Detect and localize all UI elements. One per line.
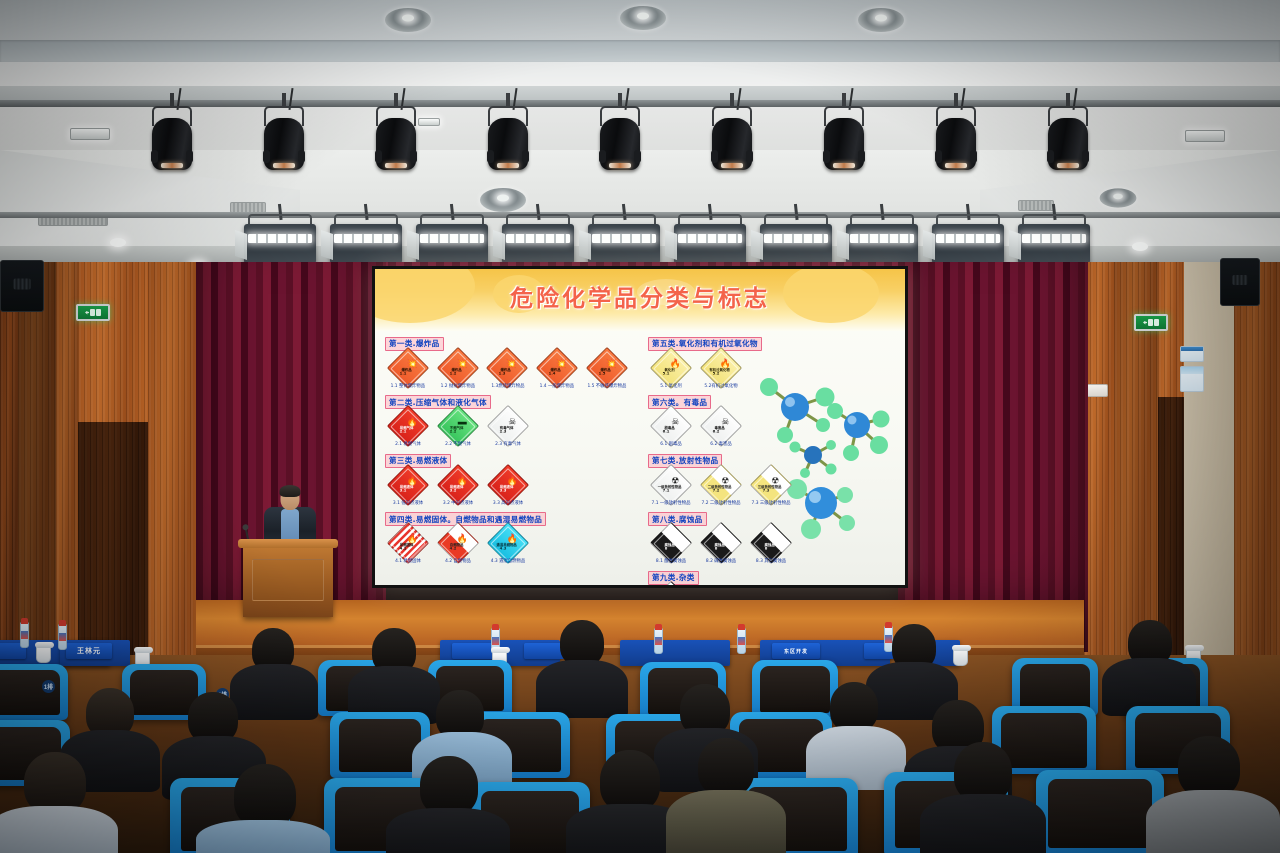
hazard-symbol-row: 💥爆炸品1.11.1 整体爆炸物品💥爆炸品1.21.2 抛射爆炸物品💥爆炸品1.… [385,353,630,389]
slide-section: 第八类.腐蚀品🜔腐蚀品88.1 酸性腐蚀品🜔腐蚀品88.2 碱性腐蚀品🜔腐蚀品8… [648,509,895,565]
stage-spotlight [370,106,422,172]
wall-poster [1180,366,1204,392]
hazard-symbol: 🔥遇湿易燃物品4.34.3 遇湿自燃物品 [485,528,531,564]
audience-shoulders [1146,790,1280,853]
tea-cup [36,645,51,663]
hazard-symbol: ☠毒害品6.26.2 毒害品 [698,411,744,447]
slide-section-heading: 第二类.压缩气体和液化气体 [385,395,491,409]
hazard-symbol: 🔥易燃液体3.33.3 高闪点液体 [485,470,531,506]
hazard-symbol: ▬不燃气体2.22.2 不燃气体 [435,411,481,447]
hazard-diamond-icon: 🔥氧化剂5.1 [650,346,692,388]
slide-column-left: 第一类.爆炸品💥爆炸品1.11.1 整体爆炸物品💥爆炸品1.21.2 抛射爆炸物… [375,329,640,585]
hazard-symbol: 🔥易燃固体4.14.1 易燃固体 [385,528,431,564]
hazard-symbol: 🔥自燃物品4.24.2 自燃物品 [435,528,481,564]
hazard-symbol-caption: 7.2 二级放射性物品 [699,501,743,506]
audience-shoulders [536,660,628,718]
hazard-symbol: 🔥易燃气体2.12.1 易燃气体 [385,411,431,447]
audience-head [830,682,878,732]
hazard-symbol: 🔥有机过氧化物5.25.2有机过氧化物 [698,353,744,389]
hazard-symbol: 🜔腐蚀品88.3 其它腐蚀品 [748,528,794,564]
hazard-symbol-caption: 4.1 易燃固体 [386,559,430,564]
slide-section-heading: 第八类.腐蚀品 [648,512,707,526]
audience-shoulders [666,790,786,853]
slide-section: 第九类.杂类▌杂类99 杂 类 [648,567,895,585]
hazard-symbol: ☢二级放射性物品7.27.2 二级放射性物品 [698,470,744,506]
hazard-symbol-caption: 1.5 不敏感爆炸物品 [585,384,629,389]
hazard-symbol-caption: 1.1 整体爆炸物品 [386,384,430,389]
slide-section-heading: 第三类.易燃液体 [385,454,451,468]
hazard-symbol-caption: 6.2 毒害品 [699,442,743,447]
slide-section: 第七类.放射性物品☢一级放射性物品7.17.1 一级放射性物品☢二级放射性物品7… [648,450,895,506]
audience-shoulders [386,808,510,853]
hazard-symbol: 💥爆炸品1.21.2 抛射爆炸物品 [435,353,481,389]
hazard-diamond-icon: 🔥有机过氧化物5.2 [700,346,742,388]
led-wash-light [1018,218,1090,264]
slide-section-heading: 第五类.氧化剂和有机过氧化物 [648,337,762,351]
hazard-diamond-icon: 💥爆炸品1.4 [536,346,578,388]
hazard-diamond-icon: 🔥遇湿易燃物品4.3 [487,522,529,564]
slide-section: 第一类.爆炸品💥爆炸品1.11.1 整体爆炸物品💥爆炸品1.21.2 抛射爆炸物… [385,333,630,389]
hazard-diamond-icon: 🔥易燃固体4.1 [387,522,429,564]
slide-section: 第五类.氧化剂和有机过氧化物🔥氧化剂5.15.1 氧化剂🔥有机过氧化物5.25.… [648,333,895,389]
ceiling-vent [1018,200,1054,211]
hazard-diamond-icon: ☢三级放射性物品7.3 [750,463,792,505]
audience-head [24,752,86,814]
ceiling-band-accent [0,40,1280,62]
hazard-symbol: 💥爆炸品1.11.1 整体爆炸物品 [385,353,431,389]
hazard-symbol: 💥爆炸品1.41.4 一般爆炸物品 [534,353,580,389]
hazard-symbol: 🔥易燃液体3.13.1 低闪点液体 [385,470,431,506]
hazard-diamond-icon: 💥爆炸品1.3 [486,346,528,388]
stage-spotlight [1042,106,1094,172]
recessed-downlight-icon [858,8,904,32]
slide-title: 危险化学品分类与标志 [375,279,905,313]
slide-section-heading: 第六类。有毒品 [648,395,711,409]
hazard-symbol-row: 🔥易燃固体4.14.1 易燃固体🔥自燃物品4.24.2 自燃物品🔥遇湿易燃物品4… [385,528,630,564]
hazard-symbol-caption: 3.1 低闪点液体 [386,501,430,506]
hazard-diamond-icon: 🜔腐蚀品8 [650,522,692,564]
recessed-downlight-icon [385,8,431,32]
hazard-symbol-row: 🔥氧化剂5.15.1 氧化剂🔥有机过氧化物5.25.2有机过氧化物 [648,353,895,389]
auditorium-seat[interactable] [752,660,838,718]
audience-shoulders [920,794,1046,853]
hazard-diamond-icon: 🔥易燃液体3.1 [387,463,429,505]
slide-section: 第二类.压缩气体和液化气体🔥易燃气体2.12.1 易燃气体▬不燃气体2.22.2… [385,392,630,448]
hazard-diamond-icon: 🜔腐蚀品8 [750,522,792,564]
hazard-symbol: ☠剧毒品6.16.1 剧毒品 [648,411,694,447]
slide-section: 第六类。有毒品☠剧毒品6.16.1 剧毒品☠毒害品6.26.2 毒害品 [648,392,895,448]
hazard-symbol-caption: 2.1 易燃气体 [386,442,430,447]
hazard-symbol-caption: 7.3 三级放射性物品 [749,501,793,506]
led-wash-light [244,218,316,264]
wall-speaker [1220,258,1260,306]
hazard-symbol: 💥爆炸品1.51.5 不敏感爆炸物品 [584,353,630,389]
hazard-symbol-caption: 4.3 遇湿自燃物品 [486,559,530,564]
hazard-symbol-row: ☠剧毒品6.16.1 剧毒品☠毒害品6.26.2 毒害品 [648,411,895,447]
audience-shoulders [196,820,330,853]
lectern [243,545,333,617]
slide-section-heading: 第七类.放射性物品 [648,454,722,468]
led-wash-light [760,218,832,264]
water-bottle [20,622,29,648]
led-wash-light [846,218,918,264]
hazard-diamond-icon: ▬不燃气体2.2 [437,405,479,447]
small-downlight-icon [1132,242,1148,251]
hazard-symbol-caption: 1.4 一般爆炸物品 [536,384,580,389]
hazard-symbol: 🜔腐蚀品88.1 酸性腐蚀品 [648,528,694,564]
hazard-symbol-caption: 2.2 不燃气体 [436,442,480,447]
audience-head [234,764,296,828]
hazard-diamond-icon: 🔥易燃气体2.1 [387,405,429,447]
audience-head [954,742,1012,802]
stage-curtain-right [898,262,1088,652]
hazard-diamond-icon: 💥爆炸品1.5 [586,346,628,388]
hazard-diamond-icon: ☠剧毒品6.1 [650,405,692,447]
led-wash-light [502,218,574,264]
hazard-symbol-caption: 8.2 碱性腐蚀品 [699,559,743,564]
stage-spotlight [482,106,534,172]
hazard-diamond-icon: 🔥易燃液体3.2 [437,463,479,505]
led-wash-light [416,218,488,264]
stage-spotlight [930,106,982,172]
water-bottle [58,624,67,650]
hazard-diamond-icon: 💥爆炸品1.2 [436,346,478,388]
audience-head [1178,736,1240,798]
water-bottle [654,628,663,654]
exit-sign-icon [1134,314,1168,331]
stage-spotlight [818,106,870,172]
hazard-symbol-row: 🔥易燃气体2.12.1 易燃气体▬不燃气体2.22.2 不燃气体☠有毒气体2.3… [385,411,630,447]
stage-spotlight [594,106,646,172]
hazard-symbol-caption: 1.3燃烧爆炸物品 [486,384,530,389]
tea-cup [953,648,968,666]
wall-poster [1180,346,1204,362]
audience-head [698,738,754,796]
led-wash-light [330,218,402,264]
projected-slide: 危险化学品分类与标志 第一类.爆炸品💥爆炸品1.11.1 整体爆炸物品💥爆炸品1… [375,269,905,585]
hazard-symbol: ☢一级放射性物品7.17.1 一级放射性物品 [648,470,694,506]
hazard-symbol-caption: 2.3 有毒气体 [486,442,530,447]
recessed-downlight-icon [480,188,526,212]
audience-head [600,750,660,812]
hazard-symbol-caption: 5.2有机过氧化物 [699,384,743,389]
stage-spotlight [258,106,310,172]
exit-sign-icon [76,304,110,321]
hazard-symbol: 🔥氧化剂5.15.1 氧化剂 [648,353,694,389]
recessed-downlight-icon [620,6,666,30]
hazard-symbol-caption: 4.2 自燃物品 [436,559,480,564]
water-bottle [737,628,746,654]
hazard-diamond-icon: ☠有毒气体2.3 [487,405,529,447]
slide-section: 第四类.易燃固体。自燃物品和遇湿易燃物品🔥易燃固体4.14.1 易燃固体🔥自燃物… [385,509,630,565]
hazard-symbol-caption: 6.1 剧毒品 [649,442,693,447]
recessed-downlight-icon [1100,188,1137,207]
name-plate: 王林元 [66,643,112,659]
hazard-diamond-icon: ☢一级放射性物品7.1 [650,463,692,505]
auditorium-seat[interactable] [1036,770,1164,853]
hazard-symbol-row: ☢一级放射性物品7.17.1 一级放射性物品☢二级放射性物品7.27.2 二级放… [648,470,895,506]
hazard-symbol-row: 🔥易燃液体3.13.1 低闪点液体🔥易燃液体3.23.2 中闪点液体🔥易燃液体3… [385,470,630,506]
hazard-symbol-caption: 1.2 抛射爆炸物品 [436,384,480,389]
projection-screen-frame: 危险化学品分类与标志 第一类.爆炸品💥爆炸品1.11.1 整体爆炸物品💥爆炸品1… [372,266,908,588]
hazard-symbol-caption: 8.1 酸性腐蚀品 [649,559,693,564]
hazard-diamond-icon: ☢二级放射性物品7.2 [700,463,742,505]
name-plate [452,643,496,659]
led-wash-light [932,218,1004,264]
ceiling-strip-light [70,128,110,140]
led-wash-light [588,218,660,264]
hazard-symbol-row: 🜔腐蚀品88.1 酸性腐蚀品🜔腐蚀品88.2 碱性腐蚀品🜔腐蚀品88.3 其它腐… [648,528,895,564]
wall-speaker [0,260,44,312]
hazard-symbol: 🔥易燃液体3.23.2 中闪点液体 [435,470,481,506]
hazard-symbol-caption: 7.1 一级放射性物品 [649,501,693,506]
stage-spotlight [706,106,758,172]
small-downlight-icon [110,238,126,247]
audience-shoulders [230,664,318,720]
ceiling-strip-light [1185,130,1225,142]
audience-head [420,756,478,816]
hazard-symbol-caption: 8.3 其它腐蚀品 [749,559,793,564]
hazard-symbol: 🜔腐蚀品88.2 碱性腐蚀品 [698,528,744,564]
hazard-symbol-caption: 3.3 高闪点液体 [486,501,530,506]
auditorium-photo: 危险化学品分类与标志 第一类.爆炸品💥爆炸品1.11.1 整体爆炸物品💥爆炸品1… [0,0,1280,853]
hazard-symbol-caption: 5.1 氧化剂 [649,384,693,389]
slide-column-right: 第五类.氧化剂和有机过氧化物🔥氧化剂5.15.1 氧化剂🔥有机过氧化物5.25.… [640,329,905,585]
hazard-diamond-icon: 💥爆炸品1.1 [387,346,429,388]
auditorium-seat[interactable] [0,664,68,720]
seat-row-marker: 1排 [42,680,55,693]
hazard-symbol: ☢三级放射性物品7.37.3 三级放射性物品 [748,470,794,506]
hazard-symbol: 💥爆炸品1.31.3燃烧爆炸物品 [485,353,531,389]
audience-shoulders [0,806,118,853]
hazard-diamond-icon: 🜔腐蚀品8 [700,522,742,564]
hazard-symbol-caption: 3.2 中闪点液体 [436,501,480,506]
hazard-diamond-icon: ☠毒害品6.2 [700,405,742,447]
hazard-diamond-icon: 🔥自燃物品4.2 [437,522,479,564]
hazard-symbol: ☠有毒气体2.32.3 有毒气体 [485,411,531,447]
slide-section-heading: 第一类.爆炸品 [385,337,444,351]
stage-spotlight [146,106,198,172]
led-wash-light [674,218,746,264]
slide-section: 第三类.易燃液体🔥易燃液体3.13.1 低闪点液体🔥易燃液体3.23.2 中闪点… [385,450,630,506]
name-plate: 东区开发 [772,643,820,659]
hazard-diamond-icon: 🔥易燃液体3.3 [487,463,529,505]
